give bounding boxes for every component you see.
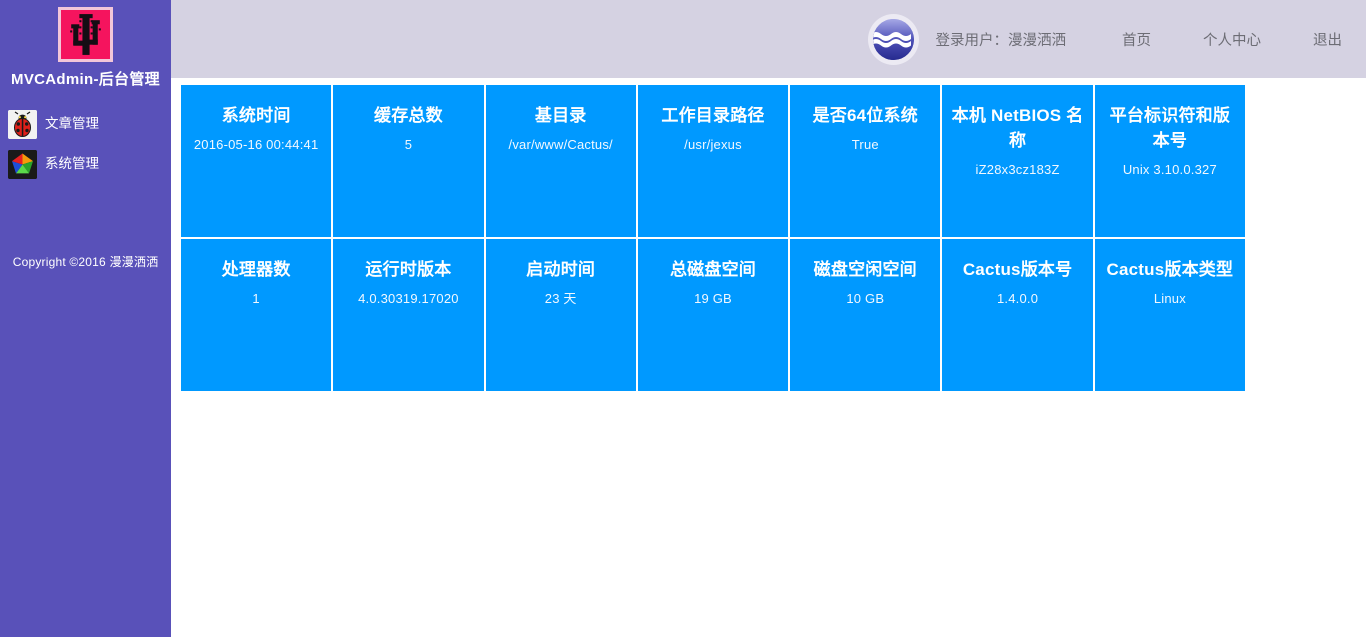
tile-value: 23 天 [494, 290, 628, 307]
tile-value: 2016-05-16 00:44:41 [189, 136, 323, 153]
tile-title: 磁盘空闲空间 [798, 257, 932, 282]
user-avatar-waves-icon [873, 19, 914, 60]
sidebar-item-article-management[interactable]: 文章管理 [8, 104, 171, 144]
logged-in-user-label: 登录用户：漫漫洒洒 [936, 29, 1067, 50]
tile-value: 10 GB [798, 290, 932, 307]
tile-value: 1 [189, 290, 323, 307]
tile-value: 5 [341, 136, 475, 153]
brand-logo-container [0, 0, 171, 62]
tile-uptime[interactable]: 启动时间 23 天 [486, 239, 636, 391]
tile-is-64bit-system[interactable]: 是否64位系统 True [790, 85, 940, 237]
tile-title: 本机 NetBIOS 名称 [950, 103, 1084, 153]
tile-value: Linux [1103, 290, 1237, 307]
tile-value: 19 GB [646, 290, 780, 307]
tile-title: 缓存总数 [341, 103, 475, 128]
ladybug-icon [8, 110, 37, 139]
cactus-logo-icon [58, 7, 113, 62]
tile-title: 工作目录路径 [646, 103, 780, 128]
sidebar-item-system-management[interactable]: 系统管理 [8, 144, 171, 184]
tile-cache-count[interactable]: 缓存总数 5 [333, 85, 483, 237]
nav-link-logout[interactable]: 退出 [1313, 29, 1342, 50]
copyright-text: Copyright ©2016 漫漫洒洒 [0, 253, 171, 270]
tile-cactus-version-type[interactable]: Cactus版本类型 Linux [1095, 239, 1245, 391]
nav-link-home[interactable]: 首页 [1122, 29, 1151, 50]
tile-title: Cactus版本类型 [1103, 257, 1237, 282]
tile-free-disk-space[interactable]: 磁盘空闲空间 10 GB [790, 239, 940, 391]
tile-title: 总磁盘空间 [646, 257, 780, 282]
tile-netbios-name[interactable]: 本机 NetBIOS 名称 iZ28x3cz183Z [942, 85, 1092, 237]
sidebar-item-label: 系统管理 [45, 157, 99, 171]
tile-title: 处理器数 [189, 257, 323, 282]
page-title: MVCAdmin-后台管理 [0, 71, 171, 89]
tile-title: 平台标识符和版本号 [1103, 103, 1237, 153]
tile-value: Unix 3.10.0.327 [1103, 161, 1237, 178]
tile-value: True [798, 136, 932, 153]
top-header-bar: 登录用户：漫漫洒洒 首页 个人中心 退出 [171, 0, 1366, 78]
tile-title: 基目录 [494, 103, 628, 128]
admin-dashboard-page: MVCAdmin-后台管理 [0, 0, 1366, 637]
tile-value: 4.0.30319.17020 [341, 290, 475, 307]
tile-value: /usr/jexus [646, 136, 780, 153]
tile-title: 运行时版本 [341, 257, 475, 282]
tile-title: 系统时间 [189, 103, 323, 128]
tile-title: 是否64位系统 [798, 103, 932, 128]
tile-runtime-version[interactable]: 运行时版本 4.0.30319.17020 [333, 239, 483, 391]
sidebar-menu: 文章管理 系统管理 [0, 104, 171, 184]
tile-system-time[interactable]: 系统时间 2016-05-16 00:44:41 [181, 85, 331, 237]
tile-working-directory-path[interactable]: 工作目录路径 /usr/jexus [638, 85, 788, 237]
tile-platform-id-and-version[interactable]: 平台标识符和版本号 Unix 3.10.0.327 [1095, 85, 1245, 237]
tile-cactus-version[interactable]: Cactus版本号 1.4.0.0 [942, 239, 1092, 391]
tile-value: iZ28x3cz183Z [950, 161, 1084, 178]
tile-title: Cactus版本号 [950, 257, 1084, 282]
tile-processor-count[interactable]: 处理器数 1 [181, 239, 331, 391]
system-info-tile-grid: 系统时间 2016-05-16 00:44:41 缓存总数 5 基目录 /var… [181, 85, 1245, 391]
tile-title: 启动时间 [494, 257, 628, 282]
sidebar: MVCAdmin-后台管理 [0, 0, 171, 637]
nav-link-personal-center[interactable]: 个人中心 [1203, 29, 1261, 50]
tile-value: /var/www/Cactus/ [494, 136, 628, 153]
color-wheel-icon [8, 150, 37, 179]
tile-value: 1.4.0.0 [950, 290, 1084, 307]
sidebar-item-label: 文章管理 [45, 117, 99, 131]
tile-base-directory[interactable]: 基目录 /var/www/Cactus/ [486, 85, 636, 237]
tile-total-disk-space[interactable]: 总磁盘空间 19 GB [638, 239, 788, 391]
avatar[interactable] [868, 14, 919, 65]
